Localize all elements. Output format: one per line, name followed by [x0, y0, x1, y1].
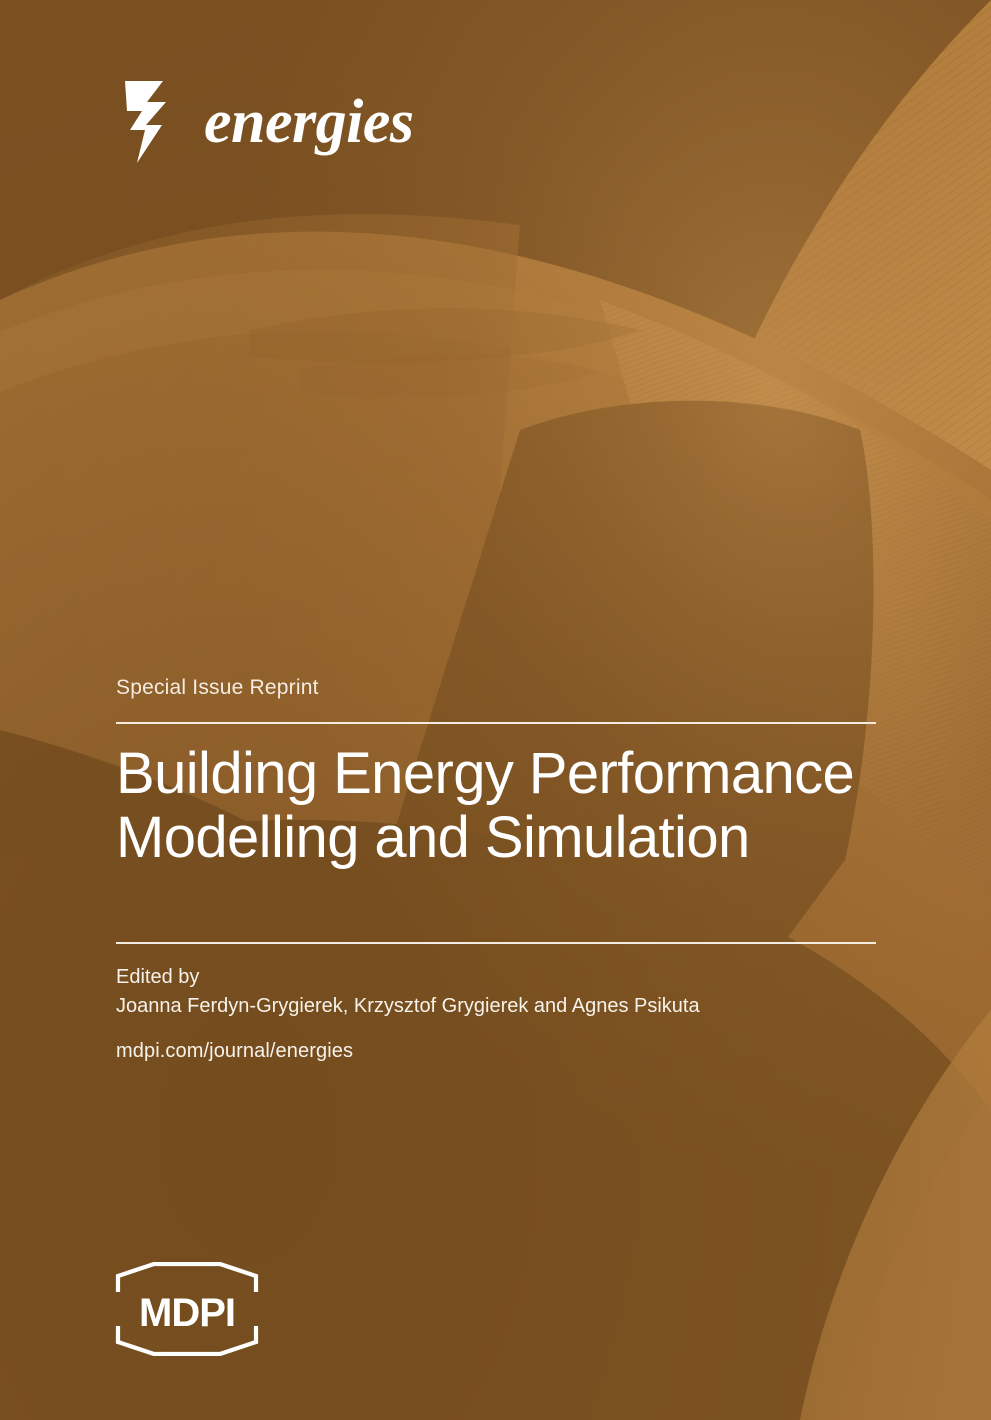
journal-title: energies — [204, 91, 414, 153]
journal-website-link[interactable]: mdpi.com/journal/energies — [116, 1040, 876, 1063]
editor-names: Joanna Ferdyn-Grygierek, Krzysztof Grygi… — [116, 992, 876, 1021]
edited-by-label: Edited by — [116, 963, 876, 992]
cover-content: energies Special Issue Reprint Building … — [0, 0, 991, 1420]
divider-top — [116, 722, 876, 724]
divider-bottom — [116, 942, 876, 944]
page-title: Building Energy Performance Modelling an… — [116, 742, 876, 871]
book-cover: energies Special Issue Reprint Building … — [0, 0, 991, 1420]
journal-masthead: energies — [116, 78, 414, 166]
editors-block: Edited by Joanna Ferdyn-Grygierek, Krzys… — [116, 963, 876, 1021]
mdpi-hexagon-logo: MDPI — [112, 1262, 262, 1356]
lightning-bolt-icon — [116, 78, 178, 166]
special-issue-label: Special Issue Reprint — [116, 676, 876, 700]
mdpi-wordmark: MDPI — [139, 1291, 235, 1335]
